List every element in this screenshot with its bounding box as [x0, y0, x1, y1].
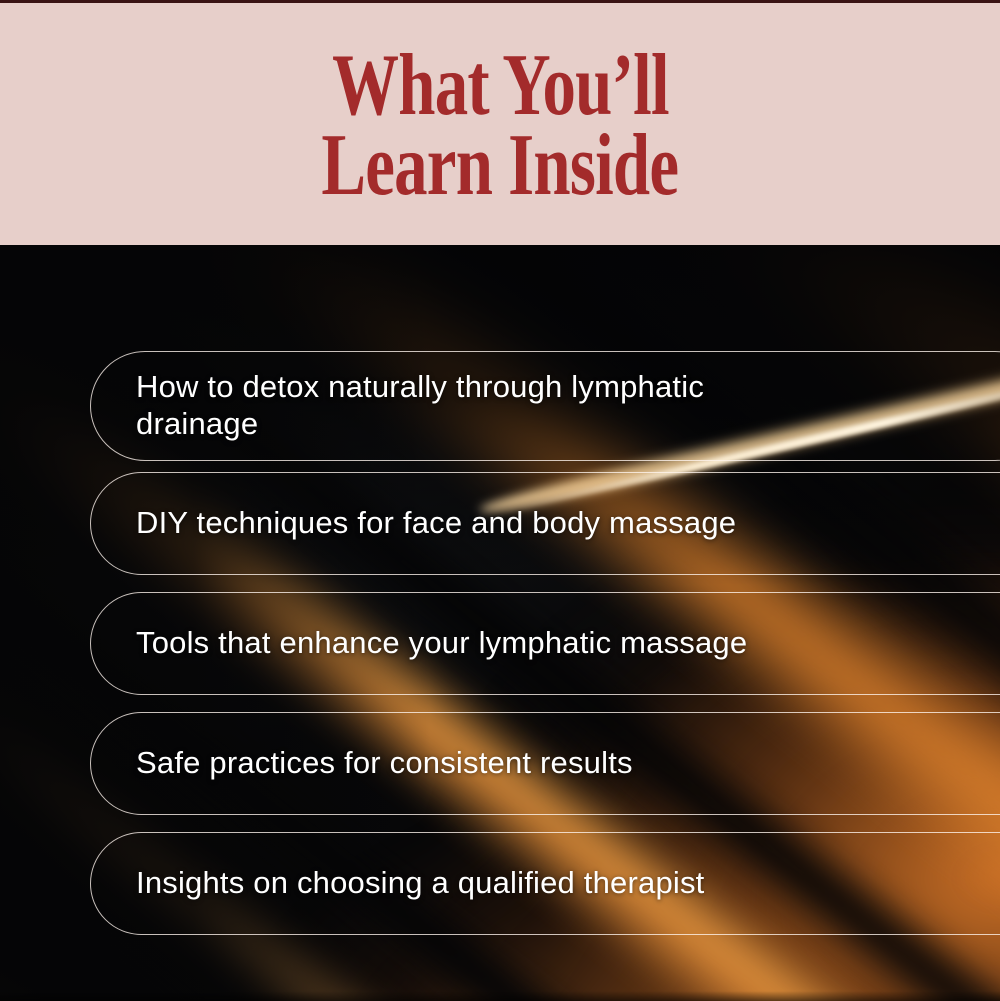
page-title-line-1: What You’ll: [332, 47, 669, 124]
header-band: What You’ll Learn Inside: [0, 0, 1000, 245]
list-item-label: DIY techniques for face and body massage: [136, 505, 736, 542]
benefits-list: How to detox naturally through lymphatic…: [0, 245, 1000, 1001]
page-title-line-2: Learn Inside: [322, 127, 679, 204]
list-item[interactable]: Safe practices for consistent results: [90, 712, 1000, 815]
poster-canvas: What You’ll Learn Inside How to de: [0, 0, 1000, 1001]
page-title: What You’ll Learn Inside: [0, 0, 1000, 245]
list-item-label: Insights on choosing a qualified therapi…: [136, 865, 705, 902]
list-item-label: Safe practices for consistent results: [136, 745, 633, 782]
list-item[interactable]: Insights on choosing a qualified therapi…: [90, 832, 1000, 935]
list-item[interactable]: Tools that enhance your lymphatic massag…: [90, 592, 1000, 695]
list-item[interactable]: How to detox naturally through lymphatic…: [90, 351, 1000, 461]
list-item[interactable]: DIY techniques for face and body massage: [90, 472, 1000, 575]
list-item-label: How to detox naturally through lymphatic…: [136, 369, 796, 442]
list-item-label: Tools that enhance your lymphatic massag…: [136, 625, 747, 662]
